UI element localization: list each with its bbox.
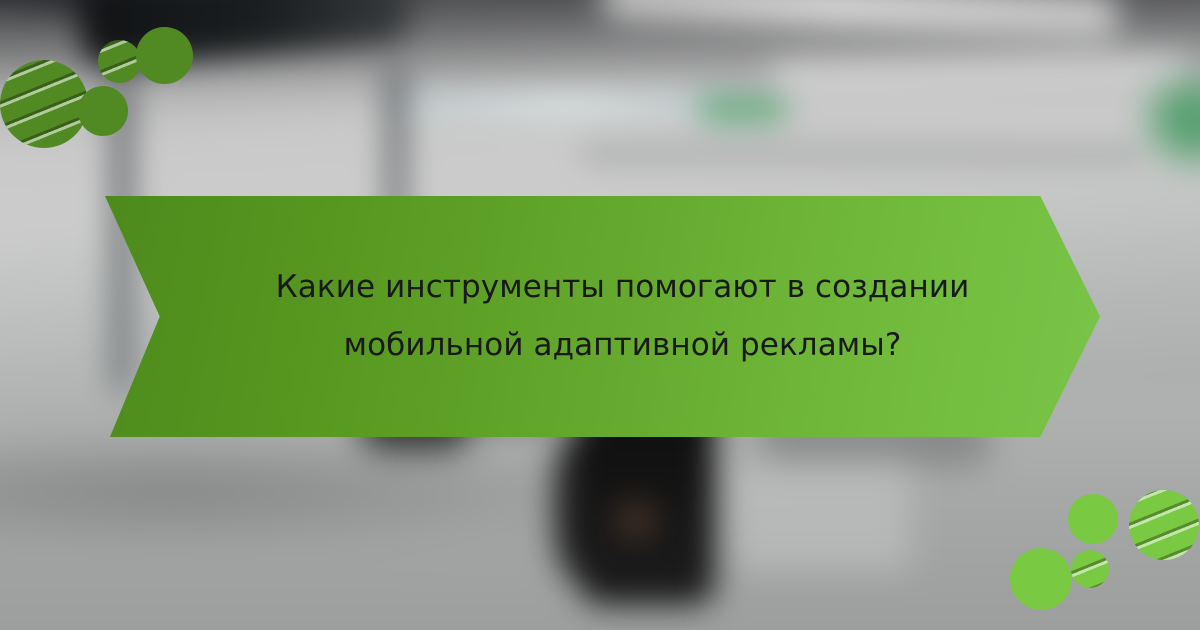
shelf-line <box>580 145 1140 163</box>
circle-stripe-pattern <box>98 40 141 83</box>
circle-stripe-pattern <box>1129 490 1199 560</box>
circle-striped-small <box>1071 550 1109 588</box>
light-panel-right <box>730 460 910 570</box>
share-card-canvas: Какие инструменты помогают в создании мо… <box>0 0 1200 630</box>
headline-line-2: мобильной адаптивной рекламы? <box>344 327 902 363</box>
headline-banner: Какие инструменты помогают в создании мо… <box>105 195 1100 438</box>
person-hand-silhouette <box>615 500 657 540</box>
circle-plain-medium <box>1068 494 1118 544</box>
circle-plain-large <box>136 27 193 84</box>
green-sign-blur <box>700 98 786 120</box>
circle-plain-large <box>1010 548 1072 610</box>
circle-striped-small <box>98 40 141 83</box>
circle-striped-large <box>0 60 88 148</box>
glass-partition <box>390 90 740 116</box>
circle-stripe-pattern <box>0 60 88 148</box>
headline-text: Какие инструменты помогают в создании мо… <box>253 259 993 374</box>
headline-line-1: Какие инструменты помогают в создании <box>276 269 970 305</box>
circle-striped-large <box>1129 490 1199 560</box>
circle-plain-small <box>78 86 128 136</box>
circle-stripe-pattern <box>1071 550 1109 588</box>
